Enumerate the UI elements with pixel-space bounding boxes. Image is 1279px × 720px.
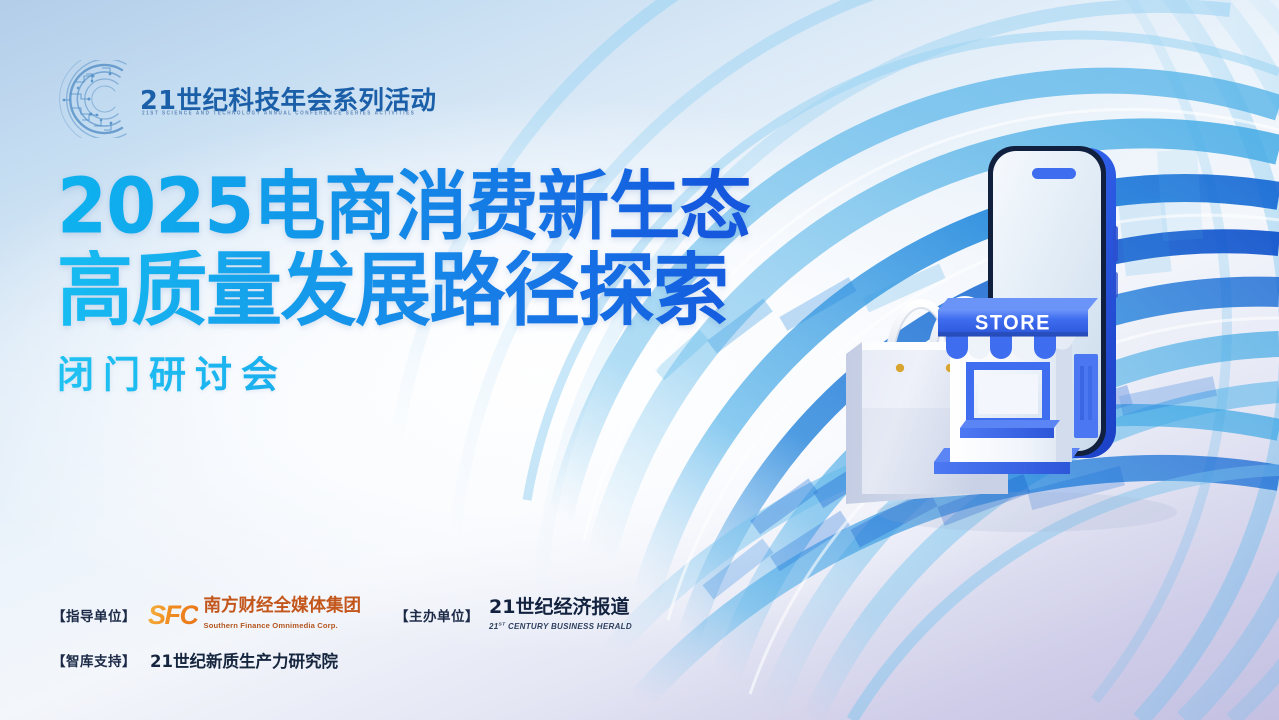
ecommerce-illustration: STORE — [842, 140, 1212, 540]
guidance-unit-tag: 【指导单位】 — [52, 605, 136, 625]
herald-name-en: 21ST CENTURY BUSINESS HERALD — [489, 622, 632, 631]
page-title: 2025电商消费新生态 高质量发展路径探索 闭门研讨会 — [57, 168, 857, 393]
herald-logo: 21世纪经济报道 21ST CENTURY BUSINESS HERALD — [489, 598, 632, 633]
footer-row-2: 【智库支持】 21世纪新质生产力研究院 — [52, 643, 632, 677]
tech-circuit-arc-icon — [52, 60, 144, 138]
sfc-mark-text: SFC — [148, 600, 198, 631]
thinktank-org-name: 21世纪新质生产力研究院 — [150, 648, 338, 672]
headline-subtitle: 闭门研讨会 — [57, 356, 857, 394]
headline-line-2: 高质量发展路径探索 — [57, 250, 857, 331]
herald-en-rest: CENTURY BUSINESS HERALD — [505, 622, 631, 631]
host-unit-tag: 【主办单位】 — [395, 605, 479, 625]
poster-canvas: 21世纪科技年会系列活动 21ST SCIENCE AND TECHNOLOGY… — [0, 0, 1279, 720]
brand-name-en: 21ST SCIENCE AND TECHNOLOGY ANNUAL CONFE… — [142, 110, 415, 116]
sfc-name-en: Southern Finance Omnimedia Corp. — [204, 621, 338, 630]
sfc-logo: SFC 南方财经全媒体集团 Southern Finance Omnimedia… — [148, 598, 361, 632]
sfc-name-cn: 南方财经全媒体集团 — [204, 596, 362, 616]
thinktank-support-tag: 【智库支持】 — [52, 650, 136, 670]
herald-en-prefix: 21 — [489, 622, 499, 631]
footer-credits: 【指导单位】 SFC 南方财经全媒体集团 Southern Finance Om… — [52, 598, 632, 677]
footer-row-1: 【指导单位】 SFC 南方财经全媒体集团 Southern Finance Om… — [52, 598, 632, 632]
herald-name-cn: 21世纪经济报道 — [489, 596, 629, 618]
store-sign-label: STORE — [975, 311, 1051, 335]
headline-line-1: 2025电商消费新生态 — [57, 168, 857, 244]
display-window — [960, 366, 1060, 438]
brand-logo: 21世纪科技年会系列活动 21ST SCIENCE AND TECHNOLOGY… — [52, 58, 327, 140]
